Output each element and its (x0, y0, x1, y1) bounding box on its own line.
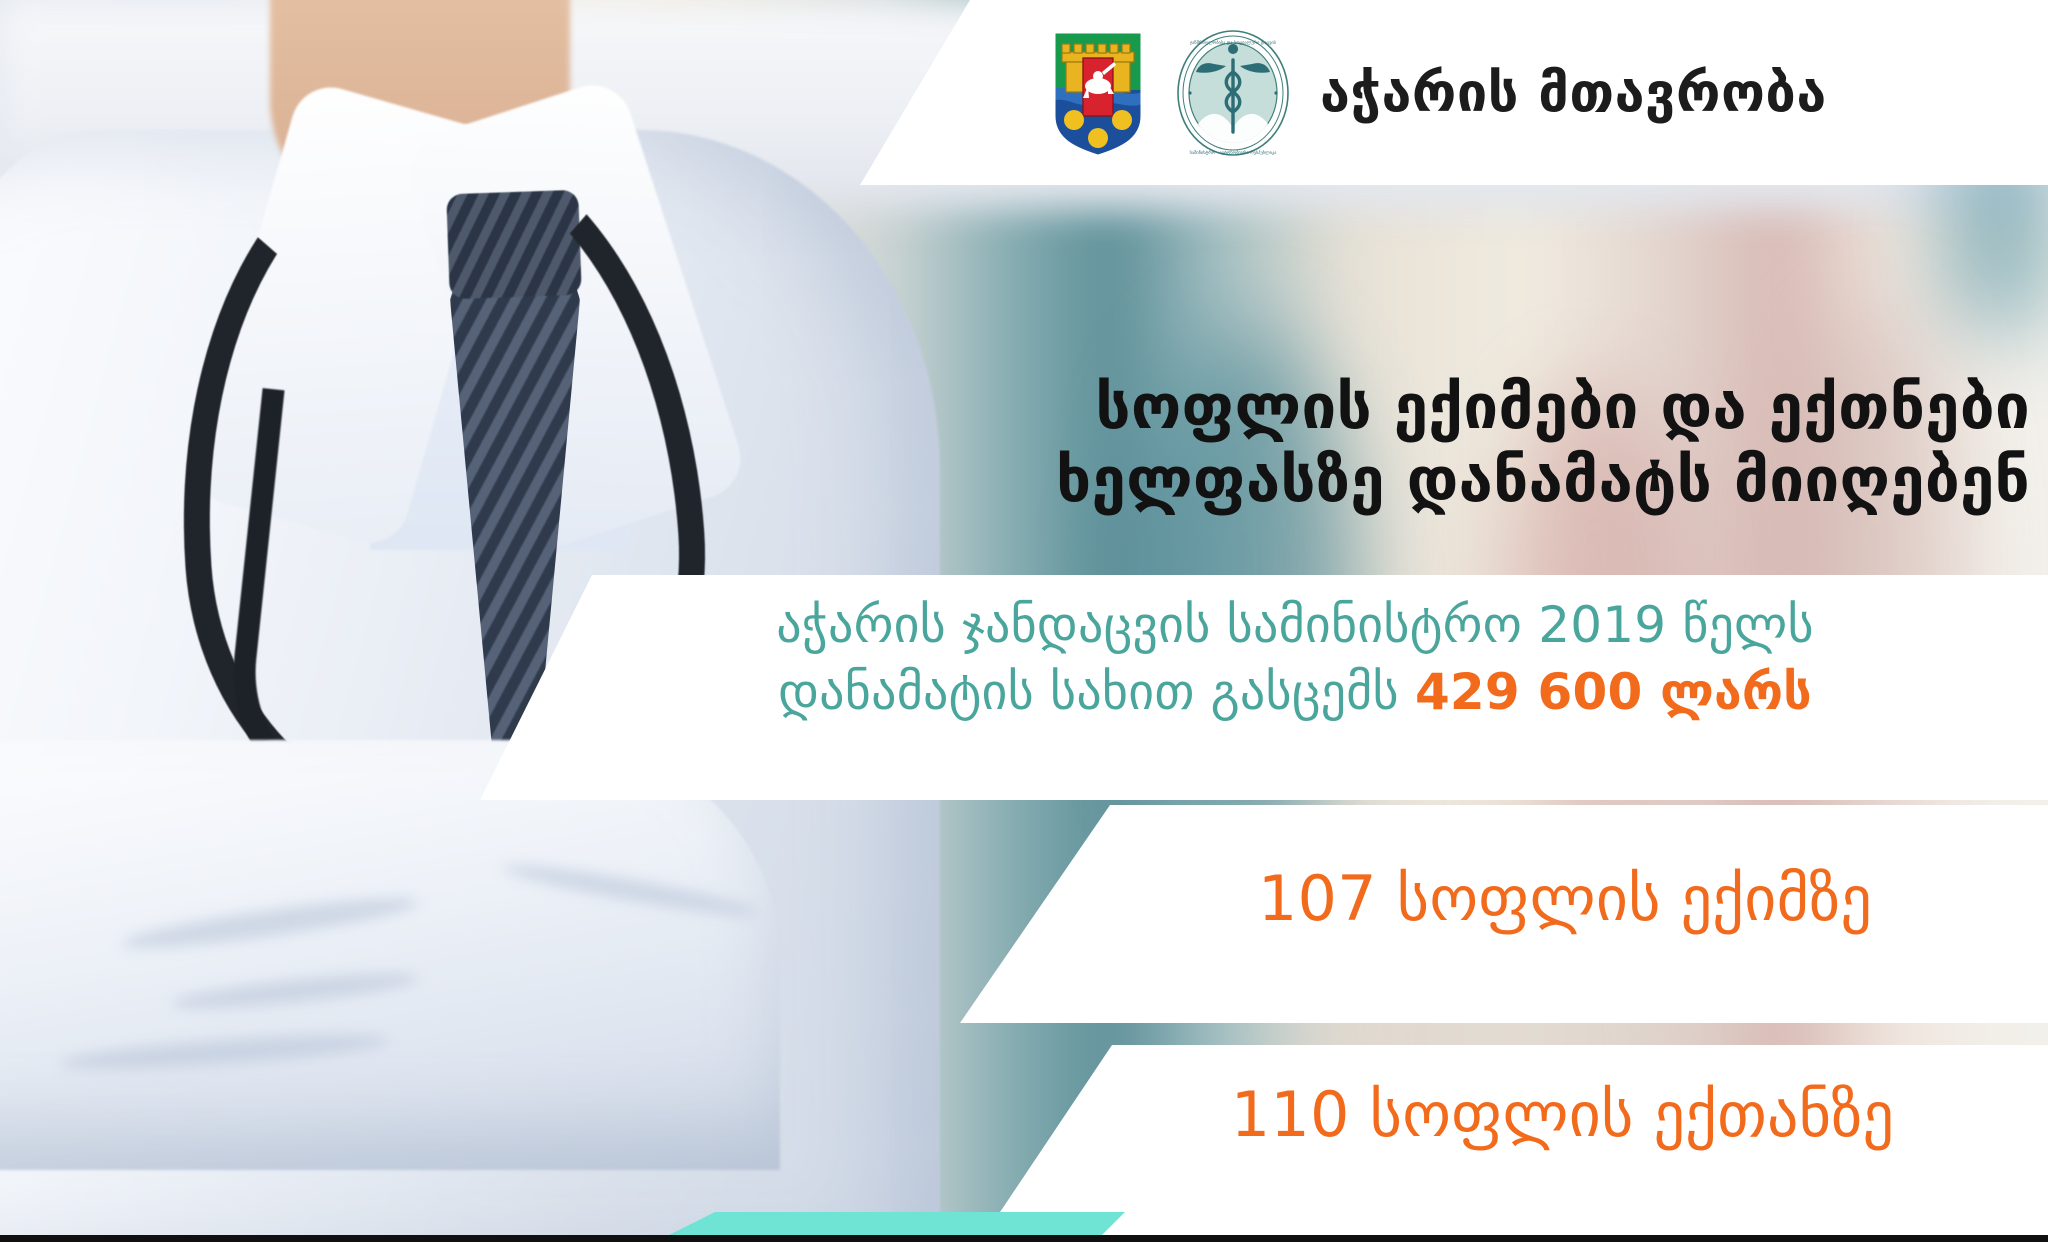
bottom-rule (0, 1235, 2048, 1242)
adjara-coat-of-arms-icon (1050, 28, 1146, 158)
subtitle-line-2: დანამატის სახით გასცემს 429 600 ლარს (560, 659, 2030, 726)
stat-label-doctors: 107 სოფლის ექიმზე (1100, 862, 2030, 935)
doctor-folded-arms (0, 740, 780, 1170)
subtitle-amount: 429 600 (1415, 663, 1643, 721)
subtitle-line-1: აჭარის ჯანდაცვის სამინისტრო 2019 წელს (560, 592, 2030, 659)
stat-label-nurses: 110 სოფლის ექთანზე (1090, 1078, 2035, 1151)
infographic-poster: ჯანმრთელობისა და სოციალური დაცვის სამინი… (0, 0, 2048, 1242)
svg-text:ჯანმრთელობისა და სოციალური დაც: ჯანმრთელობისა და სოციალური დაცვის (1190, 39, 1277, 46)
svg-text:სამინისტრო · ავტონომიური რესპუ: სამინისტრო · ავტონომიური რესპუბლიკა (1190, 149, 1278, 156)
ministry-of-health-seal-icon: ჯანმრთელობისა და სოციალური დაცვის სამინი… (1174, 28, 1292, 158)
subtitle-line-2-prefix: დანამატის სახით გასცემს (778, 663, 1415, 721)
headline: სოფლის ექიმები და ექთნები ხელფასზე დანამ… (880, 370, 2030, 516)
subtitle-text: აჭარის ჯანდაცვის სამინისტრო 2019 წელს და… (560, 592, 2030, 725)
headline-line-2: ხელფასზე დანამატს მიიღებენ (880, 443, 2030, 516)
organization-title: აჭარის მთავრობა (1320, 66, 1827, 120)
header-content: ჯანმრთელობისა და სოციალური დაცვის სამინი… (900, 0, 2048, 185)
subtitle-currency: ლარს (1660, 663, 1812, 721)
headline-line-1: სოფლის ექიმები და ექთნები (880, 370, 2030, 443)
